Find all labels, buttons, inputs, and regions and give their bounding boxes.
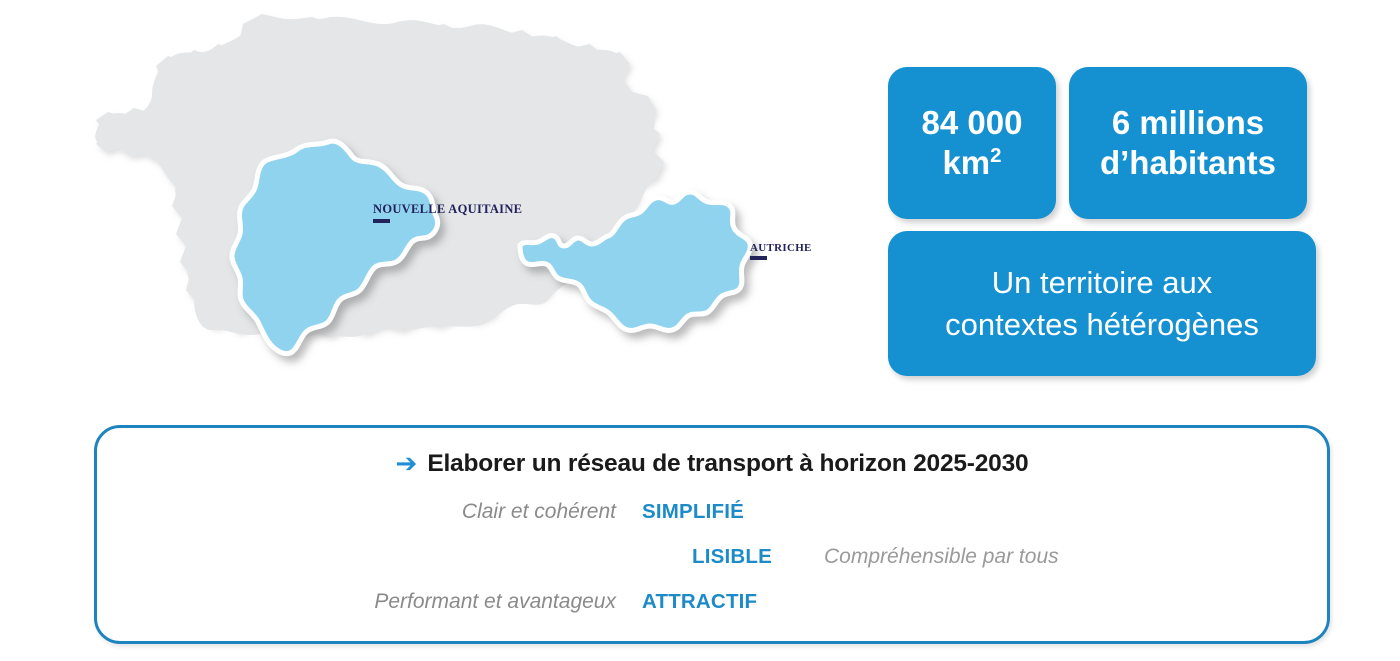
slide-root: NOUVELLE AQUITAINE AUTRICHE 84 000 km2 6… bbox=[0, 0, 1400, 661]
stat-card-population-line2: d’habitants bbox=[1100, 144, 1276, 181]
stat-card-territory-line1: Un territoire aux bbox=[992, 265, 1213, 300]
keyword-row-description-left: Clair et cohérent bbox=[97, 500, 642, 524]
stat-card-population-content: 6 millions d’habitants bbox=[1069, 103, 1307, 184]
stat-card-territory-line2: contextes hétérogènes bbox=[945, 307, 1259, 342]
stat-card-area: 84 000 km2 bbox=[888, 67, 1056, 219]
stat-cards-group: 84 000 km2 6 millions d’habitants Un ter… bbox=[0, 0, 1400, 410]
keyword-row-description-left: Performant et avantageux bbox=[97, 590, 642, 614]
keyword-rows: Clair et cohérent SIMPLIFIÉ LISIBLE Comp… bbox=[97, 500, 1327, 635]
stat-card-area-content: 84 000 km2 bbox=[888, 103, 1056, 184]
keyword-row-term: ATTRACTIF bbox=[642, 590, 772, 614]
panel-heading: ➔ Elaborer un réseau de transport à hori… bbox=[97, 450, 1327, 478]
keyword-row: Performant et avantageux ATTRACTIF bbox=[97, 590, 1327, 635]
stat-card-population: 6 millions d’habitants bbox=[1069, 67, 1307, 219]
keyword-row-description-right: Compréhensible par tous bbox=[772, 545, 1059, 569]
keyword-row-term: LISIBLE bbox=[642, 545, 772, 569]
arrow-right-icon: ➔ bbox=[396, 450, 418, 476]
stat-card-area-line1: 84 000 bbox=[922, 104, 1023, 141]
keyword-row-term: SIMPLIFIÉ bbox=[642, 500, 772, 524]
stat-card-territory-content: Un territoire aux contextes hétérogènes bbox=[888, 262, 1316, 346]
keyword-row: LISIBLE Compréhensible par tous bbox=[97, 545, 1327, 590]
stat-card-area-exponent: 2 bbox=[990, 144, 1001, 167]
stat-card-population-line1: 6 millions bbox=[1112, 104, 1264, 141]
stat-card-area-line2: km bbox=[942, 144, 990, 181]
stat-card-territory: Un territoire aux contextes hétérogènes bbox=[888, 231, 1316, 376]
keyword-row: Clair et cohérent SIMPLIFIÉ bbox=[97, 500, 1327, 545]
panel-heading-text: Elaborer un réseau de transport à horizo… bbox=[427, 450, 1028, 478]
objectives-panel: ➔ Elaborer un réseau de transport à hori… bbox=[94, 425, 1330, 644]
